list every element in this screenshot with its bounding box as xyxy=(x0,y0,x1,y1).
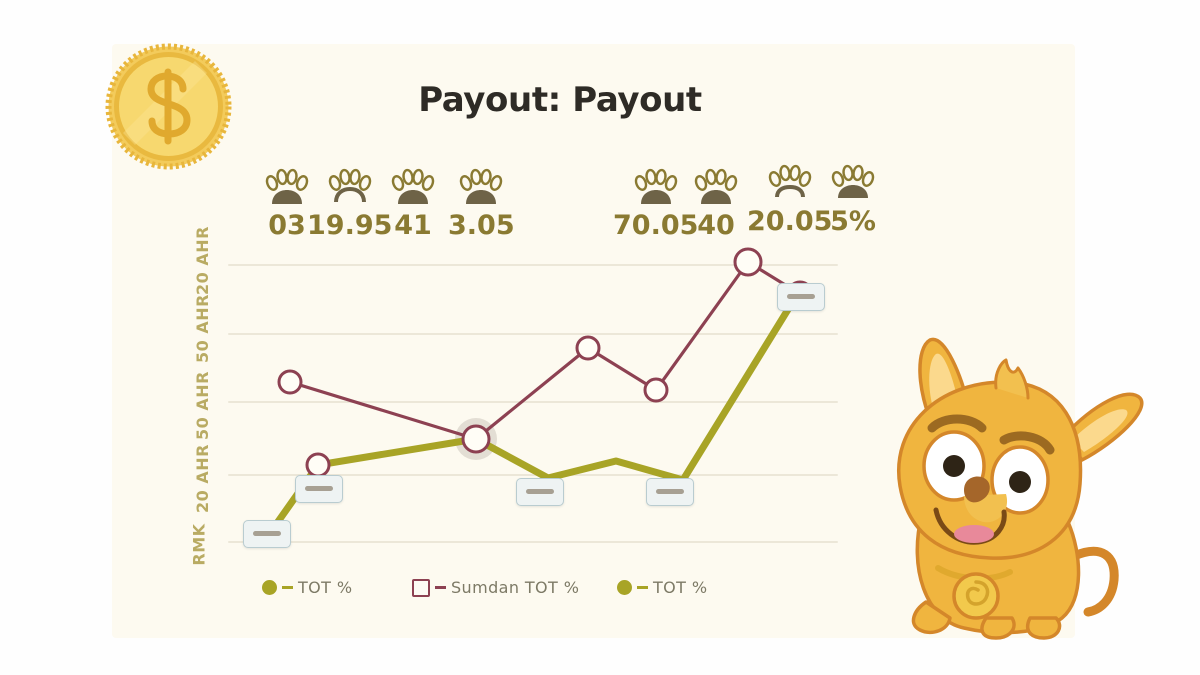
data-label-chip xyxy=(516,478,564,506)
paw-stat: 20.05 xyxy=(747,164,832,237)
paw-stat-value: 41 xyxy=(390,210,436,241)
chart-legend: TOT % Sumdan TOT % TOT % xyxy=(262,574,732,608)
y-axis-label: 50 AHR xyxy=(168,396,230,415)
paw-stat-value: 03 xyxy=(264,210,310,241)
legend-item[interactable]: TOT % xyxy=(262,578,352,597)
legend-label: Sumdan TOT % xyxy=(451,578,579,597)
data-point-marker xyxy=(463,426,489,452)
paw-stat-strip: 03 19.95 41 xyxy=(250,168,900,248)
paw-print-icon xyxy=(264,168,310,212)
paw-stat-value: 3.05 xyxy=(448,210,515,241)
y-axis-label-text: 20 AHR xyxy=(193,444,212,513)
y-axis-label: 20 AHR xyxy=(168,469,230,488)
data-point-marker xyxy=(279,371,301,393)
paw-stat: 19.95 xyxy=(307,168,392,241)
paw-stat-value: 70.05 xyxy=(613,210,698,241)
y-axis-label-text: 50 AHR xyxy=(193,371,212,440)
data-label-chip xyxy=(243,520,291,548)
paw-stat: 5% xyxy=(830,164,876,237)
paw-stat: 03 xyxy=(264,168,310,241)
y-axis-label-text: 20 AHR xyxy=(193,226,212,295)
data-label-chip xyxy=(646,478,694,506)
plot-area xyxy=(228,250,838,550)
paw-print-icon xyxy=(390,168,436,212)
data-point-marker xyxy=(645,379,667,401)
paw-print-icon xyxy=(830,164,876,208)
chart-title: Payout: Payout xyxy=(0,80,1120,120)
legend-label: TOT % xyxy=(298,578,352,597)
legend-dash-icon xyxy=(435,586,446,589)
legend-circle-marker-icon xyxy=(262,580,277,595)
legend-item[interactable]: TOT % xyxy=(617,578,707,597)
paw-stat-value: 5% xyxy=(830,206,876,237)
paw-stat-value: 19.95 xyxy=(307,210,392,241)
paw-print-icon xyxy=(633,168,679,212)
legend-square-marker-icon xyxy=(412,579,430,597)
paw-stat-value: 40 xyxy=(693,210,739,241)
y-axis-label-group: 20 AHR 50 AHR 50 AHR 20 AHR RMK xyxy=(168,243,230,563)
y-axis-label-text: 50 AHR xyxy=(193,294,212,363)
dog-mascot xyxy=(878,318,1178,658)
y-axis-label: RMK xyxy=(168,535,230,554)
paw-stat-value: 20.05 xyxy=(747,206,832,237)
legend-circle-marker-icon xyxy=(617,580,632,595)
screenshot-root: Payout: Payout 03 19.95 xyxy=(0,0,1200,675)
paw-stat: 41 xyxy=(390,168,436,241)
data-label-chip xyxy=(777,283,825,311)
paw-print-icon xyxy=(327,168,373,212)
data-point-marker xyxy=(577,337,599,359)
paw-stat: 70.05 xyxy=(613,168,698,241)
paw-print-icon xyxy=(767,164,813,208)
data-point-marker xyxy=(735,249,761,275)
paw-print-icon xyxy=(693,168,739,212)
legend-item[interactable]: Sumdan TOT % xyxy=(412,578,579,597)
data-point-marker xyxy=(307,454,329,476)
y-axis-label: 50 AHR xyxy=(168,319,230,338)
legend-label: TOT % xyxy=(653,578,707,597)
y-axis-label: 20 AHR xyxy=(168,251,230,270)
paw-stat: 40 xyxy=(693,168,739,241)
data-label-chip xyxy=(295,475,343,503)
legend-dash-icon xyxy=(637,586,648,589)
y-axis-label-text: RMK xyxy=(189,523,208,565)
paw-print-icon xyxy=(458,168,504,212)
legend-dash-icon xyxy=(282,586,293,589)
paw-stat: 3.05 xyxy=(448,168,515,241)
